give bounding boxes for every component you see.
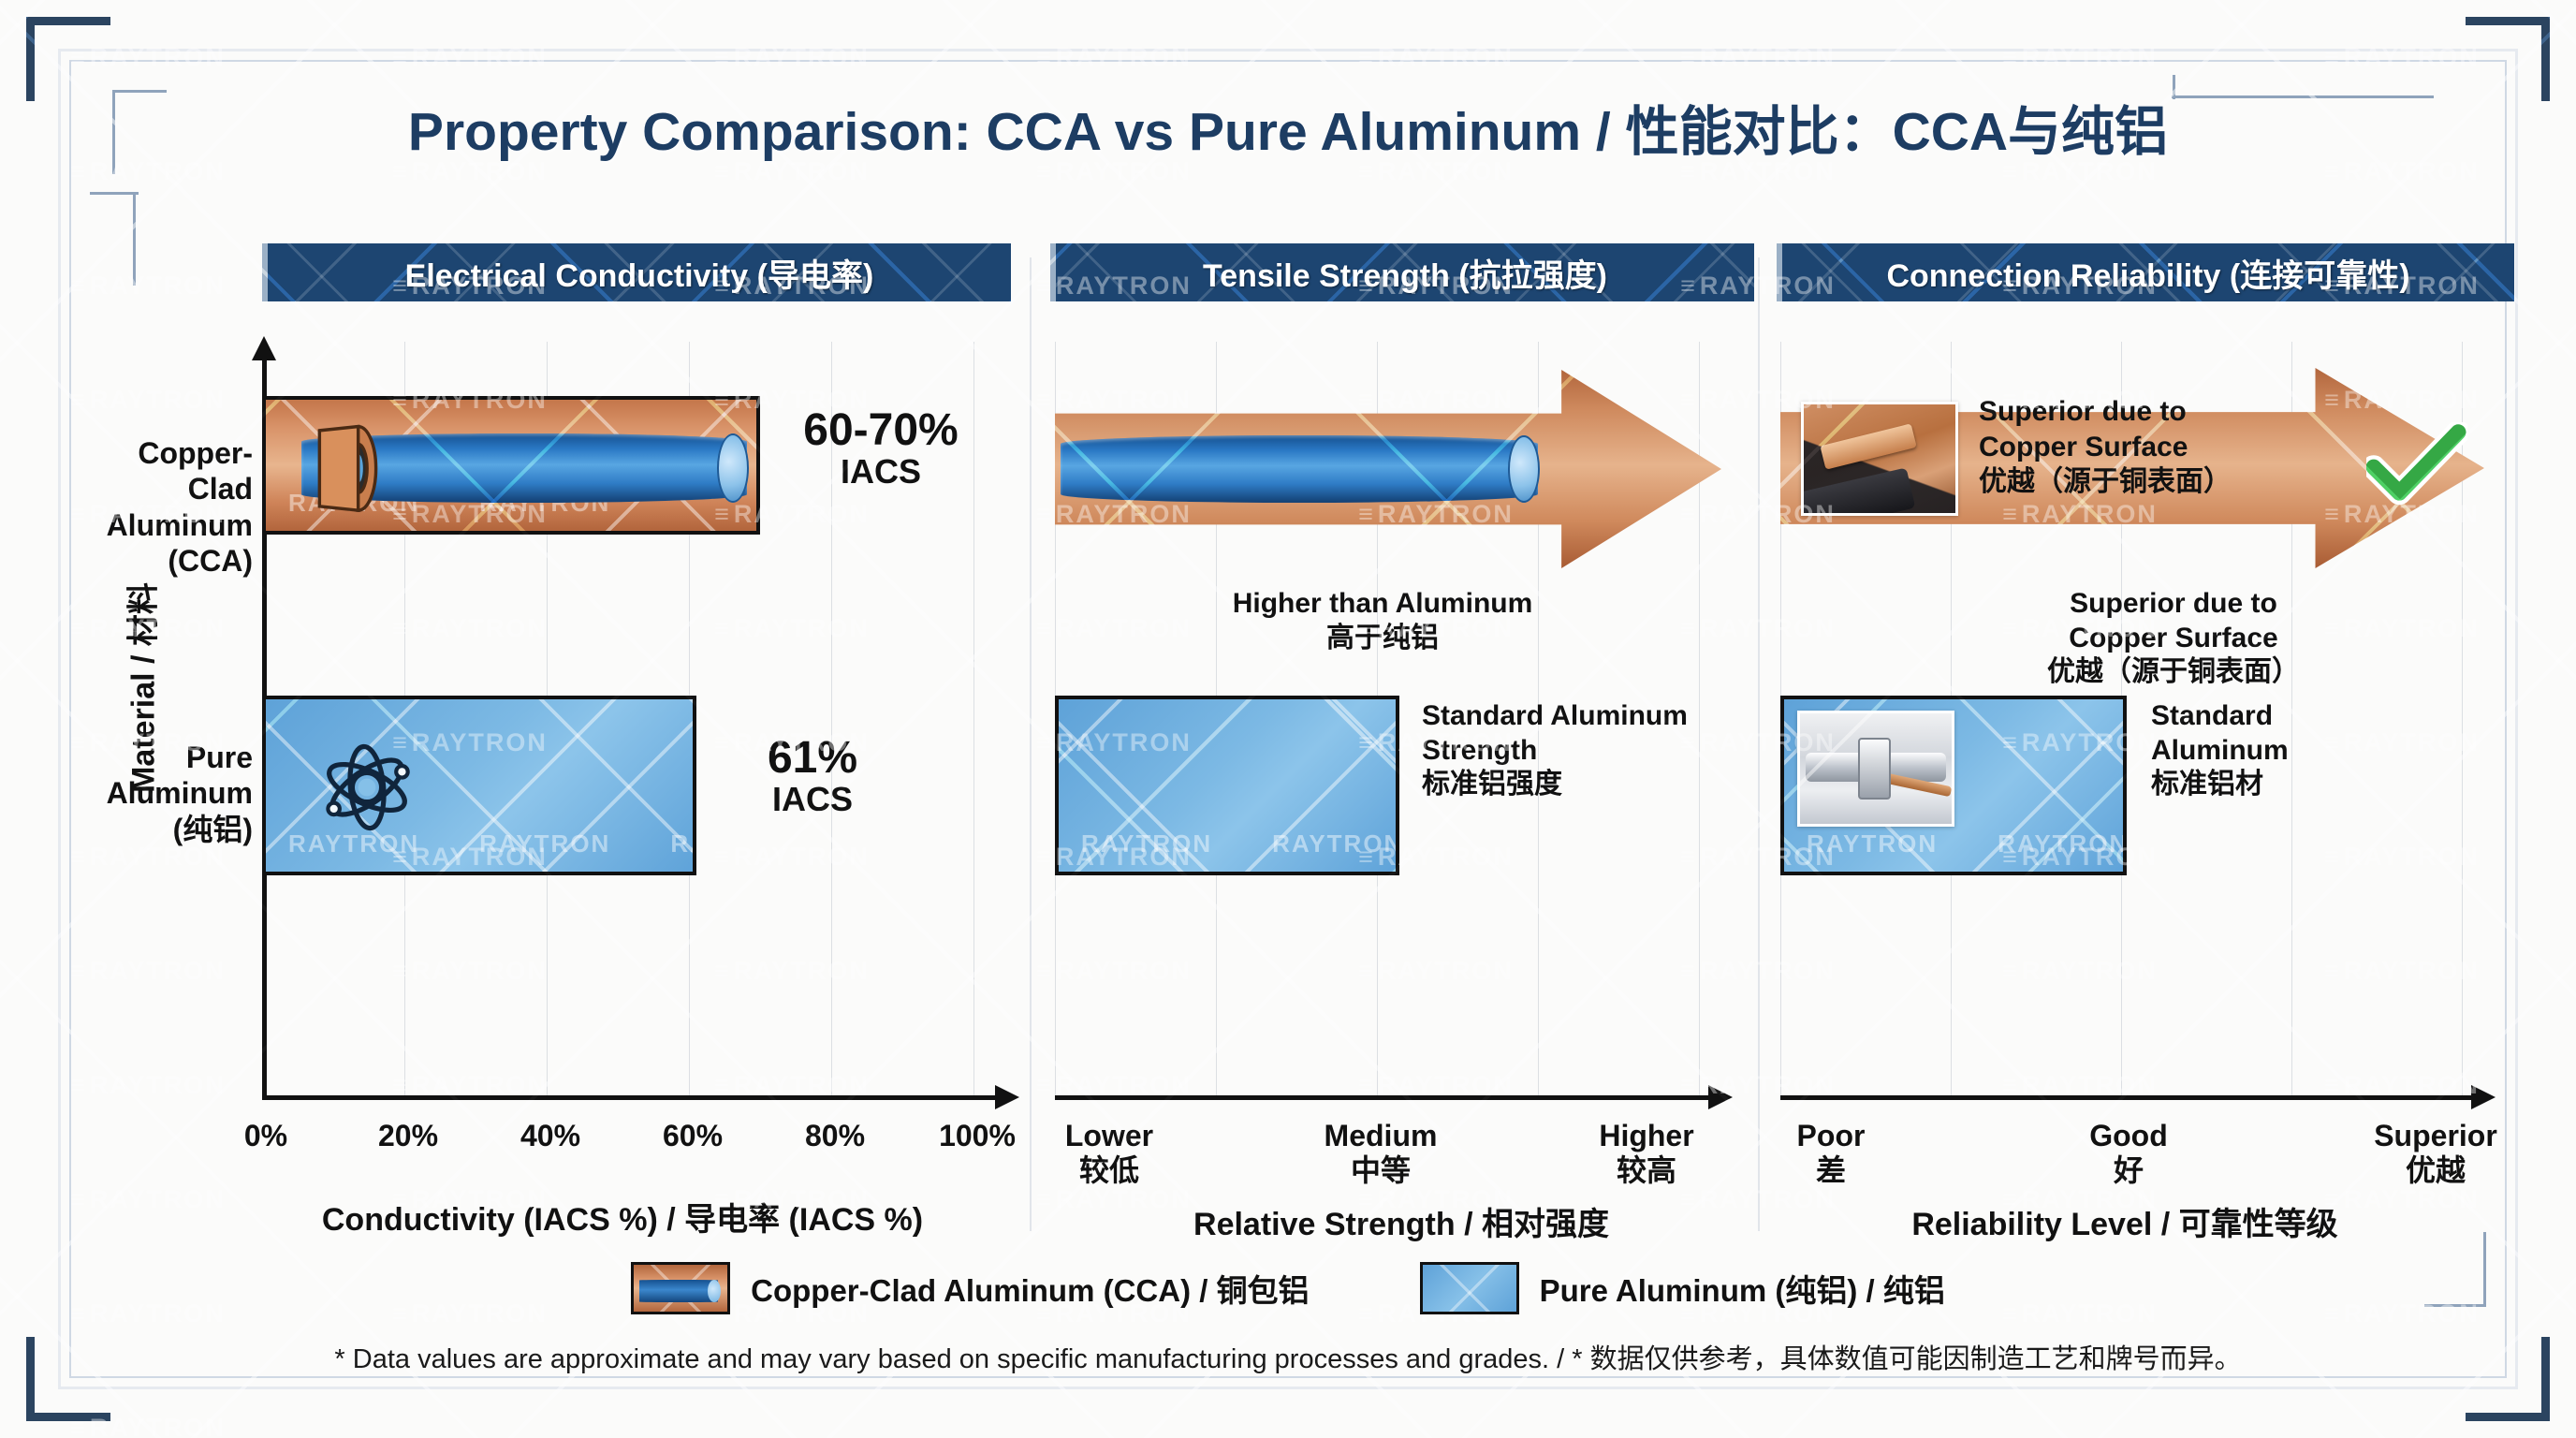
bar-aluminum-conductivity: RAYTRON RAYTRON RAYTRON xyxy=(262,696,696,875)
x-tick-top: Poor xyxy=(1797,1119,1866,1153)
aluminum-connection-photo xyxy=(1797,711,1954,827)
watermark-label: RAYTRON xyxy=(1132,370,1204,386)
note-line-3: 标准铝强度 xyxy=(1422,768,1731,802)
x-tick-top: 60% xyxy=(663,1119,723,1153)
panel-divider-1 xyxy=(1030,257,1032,1231)
value-sub: IACS xyxy=(783,454,979,490)
legend-label-aluminum: Pure Aluminum (纯铝) / 纯铝 xyxy=(1540,1266,1945,1311)
note-line-1: Superior due to xyxy=(1979,394,2353,430)
note-line-2: Aluminum xyxy=(2151,734,2432,769)
value-sub: IACS xyxy=(719,782,906,817)
note-line-1: Higher than Aluminum xyxy=(1177,587,1588,622)
x-axis-title-tensile: Relative Strength / 相对强度 xyxy=(1041,1198,1762,1244)
watermark-label: RAYTRON xyxy=(479,829,610,858)
x-tick-top: 80% xyxy=(805,1119,865,1153)
inbar-note-cca-reliability: Superior due to Copper Surface 优越（源于铜表面） xyxy=(1979,394,2353,500)
bar-watermark-text: RAYTRON RAYTRON RAYTRON xyxy=(1780,368,2484,385)
x-tick: Poor 差 xyxy=(1797,1119,1866,1188)
photo-cable-jacket xyxy=(1801,468,1916,516)
panel-header-connection-reliability: Connection Reliability (连接可靠性) xyxy=(1777,243,2514,301)
bar-cca-conductivity: RAYTRON RAYTRON xyxy=(262,396,760,535)
wire-end-cap xyxy=(1508,435,1540,503)
category-label-aluminum: Pure Aluminum (纯铝) xyxy=(75,740,253,847)
x-tick: 20% xyxy=(378,1119,438,1153)
legend-item-aluminum: Pure Aluminum (纯铝) / 纯铝 xyxy=(1420,1262,1945,1314)
bar-cca-tensile-arrow: RAYTRON RAYTRON RAYTRON xyxy=(1055,370,1721,568)
x-tick-top: Lower xyxy=(1065,1119,1153,1153)
wire-end-cap xyxy=(717,433,749,503)
photo-clamp xyxy=(1858,738,1892,800)
x-tick: Good 好 xyxy=(2089,1119,2168,1188)
value-big: 61% xyxy=(719,735,906,782)
value-label-aluminum-conductivity: 61% IACS xyxy=(719,735,906,817)
panel-electrical-conductivity: Electrical Conductivity (导电率) RAYTRON RA… xyxy=(75,243,1030,1245)
x-tick-bottom: 优越 xyxy=(2374,1153,2497,1188)
x-tick: Higher 较高 xyxy=(1599,1119,1693,1188)
note-aluminum-reliability: Standard Aluminum 标准铝材 xyxy=(2151,699,2432,802)
x-tick-top: 20% xyxy=(378,1119,438,1153)
note-line-1: Standard Aluminum xyxy=(1422,699,1731,734)
atom-icon xyxy=(318,739,416,836)
x-tick-top: Medium xyxy=(1325,1119,1438,1153)
category-line-3: (纯铝) xyxy=(75,812,253,847)
x-axis-line xyxy=(1055,1095,1710,1100)
panel-header-tensile-strength: Tensile Strength (抗拉强度) xyxy=(1050,243,1754,301)
category-line-2: Aluminum xyxy=(75,507,253,543)
bar-watermark-text: RAYTRON RAYTRON RAYTRON xyxy=(1055,370,1721,387)
page-title: Property Comparison: CCA vs Pure Aluminu… xyxy=(0,89,2576,166)
x-tick: 60% xyxy=(663,1119,723,1153)
bar-aluminum-tensile: RAYTRON RAYTRON xyxy=(1055,696,1399,875)
swatch-watermark xyxy=(1423,1265,1516,1312)
copper-clad-wire-icon xyxy=(1061,435,1538,503)
watermark-label: RAYTRON xyxy=(1998,829,2123,858)
note-line-2: Copper Surface xyxy=(1979,430,2353,465)
panel-tensile-strength: Tensile Strength (抗拉强度) RAYTRON RAYTRON … xyxy=(1041,243,1762,1245)
x-axis-line xyxy=(262,1095,997,1100)
x-tick-top: 100% xyxy=(939,1119,1016,1153)
bar-watermark xyxy=(1059,699,1396,872)
watermark-label: RAYTRON xyxy=(1857,368,1929,384)
bar-watermark-text: RAYTRON RAYTRON xyxy=(1059,699,1396,872)
x-tick-top: 0% xyxy=(244,1119,287,1153)
x-tick-top: Higher xyxy=(1599,1119,1693,1153)
watermark-label: RAYTRON xyxy=(1055,370,1127,386)
x-axis-title-reliability: Reliability Level / 可靠性等级 xyxy=(1769,1198,2481,1244)
chart-legend: Copper-Clad Aluminum (CCA) / 铜包铝 Pure Al… xyxy=(0,1262,2576,1314)
x-tick: Superior 优越 xyxy=(2374,1119,2497,1188)
x-tick-bottom: 差 xyxy=(1797,1153,1866,1188)
photo-copper-lug xyxy=(1821,424,1918,470)
category-label-cca: Copper-Clad Aluminum (CCA) xyxy=(75,435,253,580)
panel-connection-reliability: Connection Reliability (连接可靠性) RAYTRON R… xyxy=(1769,243,2518,1245)
x-tick: Lower 较低 xyxy=(1065,1119,1153,1188)
x-axis-title-conductivity: Conductivity (IACS %) / 导电率 (IACS %) xyxy=(225,1194,1020,1240)
value-label-cca-conductivity: 60-70% IACS xyxy=(783,407,979,490)
note-line-3: 标准铝材 xyxy=(2151,768,2432,802)
copper-clad-connection-photo xyxy=(1801,402,1958,516)
x-tick: 40% xyxy=(520,1119,580,1153)
note-line-1: Standard xyxy=(2151,699,2432,734)
watermark-label: RAYTRON xyxy=(670,829,693,858)
note-line-2: Strength xyxy=(1422,734,1731,769)
note-line-3: 优越（源于铜表面） xyxy=(1979,464,2353,500)
cca-swatch xyxy=(631,1262,730,1314)
watermark-label: RAYTRON xyxy=(1207,370,1280,386)
legend-item-cca: Copper-Clad Aluminum (CCA) / 铜包铝 xyxy=(631,1262,1309,1314)
note-line-2: 高于纯铝 xyxy=(1177,622,1588,656)
green-check-icon xyxy=(2366,422,2467,508)
panel-header-electrical-conductivity: Electrical Conductivity (导电率) xyxy=(262,243,1011,301)
watermark-label: RAYTRON xyxy=(1272,829,1396,858)
category-line-1: Pure xyxy=(75,740,253,775)
x-tick: 80% xyxy=(805,1119,865,1153)
x-tick: 100% xyxy=(939,1119,1016,1153)
x-tick: 0% xyxy=(244,1119,287,1153)
note-cca-reliability: Superior due to Copper Surface 优越（源于铜表面） xyxy=(1958,587,2389,690)
x-tick: Medium 中等 xyxy=(1325,1119,1438,1188)
plot-area-tensile: RAYTRON RAYTRON RAYTRON Higher than Alum… xyxy=(1055,342,1724,1100)
plot-area-reliability: RAYTRON RAYTRON RAYTRON Superior due to … xyxy=(1780,342,2499,1100)
x-tick-bottom: 中等 xyxy=(1325,1153,1438,1188)
swatch-wire-icon xyxy=(639,1280,718,1302)
legend-label-cca: Copper-Clad Aluminum (CCA) / 铜包铝 xyxy=(751,1266,1309,1311)
note-line-2: Copper Surface xyxy=(1958,622,2389,656)
plot-area-conductivity: RAYTRON RAYTRON 60-70% IACS xyxy=(262,342,1011,1100)
x-tick-top: Superior xyxy=(2374,1119,2497,1153)
panel-header-label: Tensile Strength (抗拉强度) xyxy=(1203,250,1607,296)
x-axis-line xyxy=(1780,1095,2473,1100)
note-line-3: 优越（源于铜表面） xyxy=(1958,655,2389,690)
footnote: * Data values are approximate and may va… xyxy=(0,1337,2576,1376)
panel-header-label: Connection Reliability (连接可靠性) xyxy=(1886,250,2409,296)
x-tick-bottom: 较低 xyxy=(1065,1153,1153,1188)
infographic-canvas: RAYTRON RAYTRON RAYTRON RAYTRON RAYTRON … xyxy=(0,0,2576,1438)
copper-clad-wire-icon xyxy=(301,433,747,503)
note-aluminum-tensile: Standard Aluminum Strength 标准铝强度 xyxy=(1422,699,1731,802)
category-line-2: Aluminum xyxy=(75,775,253,811)
aluminum-swatch xyxy=(1420,1262,1519,1314)
value-big: 60-70% xyxy=(783,407,979,454)
y-axis-label: Material / 材料 xyxy=(118,548,164,829)
panel-header-label: Electrical Conductivity (导电率) xyxy=(405,250,874,296)
copper-sheath-icon xyxy=(296,424,382,513)
watermark-label: RAYTRON xyxy=(1081,829,1212,858)
watermark-label: RAYTRON xyxy=(1933,368,2005,384)
note-cca-tensile: Higher than Aluminum 高于纯铝 xyxy=(1177,587,1588,655)
watermark-label: RAYTRON xyxy=(1780,368,1852,384)
watermark-label: RAYTRON xyxy=(1807,829,1938,858)
x-tick-top: Good xyxy=(2089,1119,2168,1153)
category-line-1: Copper-Clad xyxy=(75,435,253,507)
x-tick-bottom: 好 xyxy=(2089,1153,2168,1188)
category-line-3: (CCA) xyxy=(75,543,253,579)
note-line-1: Superior due to xyxy=(1958,587,2389,622)
x-tick-bottom: 较高 xyxy=(1599,1153,1693,1188)
x-tick-top: 40% xyxy=(520,1119,580,1153)
